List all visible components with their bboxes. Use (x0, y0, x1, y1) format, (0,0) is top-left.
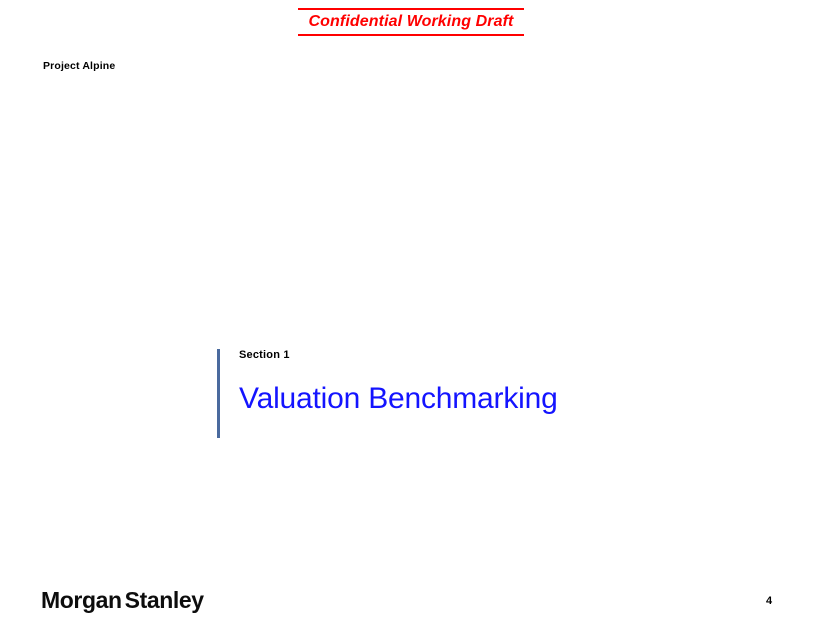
brand-logo-second-word: Stanley (125, 587, 204, 613)
section-accent-rule (217, 349, 220, 438)
section-eyebrow: Section 1 (239, 349, 558, 362)
project-name: Project Alpine (43, 60, 115, 72)
section-text-group: Section 1 Valuation Benchmarking (239, 349, 558, 416)
brand-logo: MorganStanley (41, 587, 204, 614)
confidential-rule-bottom (298, 34, 524, 36)
confidential-label: Confidential Working Draft (298, 11, 524, 33)
slide-page: Confidential Working Draft Project Alpin… (0, 0, 822, 635)
section-title: Valuation Benchmarking (239, 382, 558, 416)
page-number: 4 (766, 595, 772, 608)
confidential-rule-top (298, 8, 524, 10)
brand-logo-first-word: Morgan (41, 587, 122, 613)
confidential-banner: Confidential Working Draft (298, 8, 524, 36)
